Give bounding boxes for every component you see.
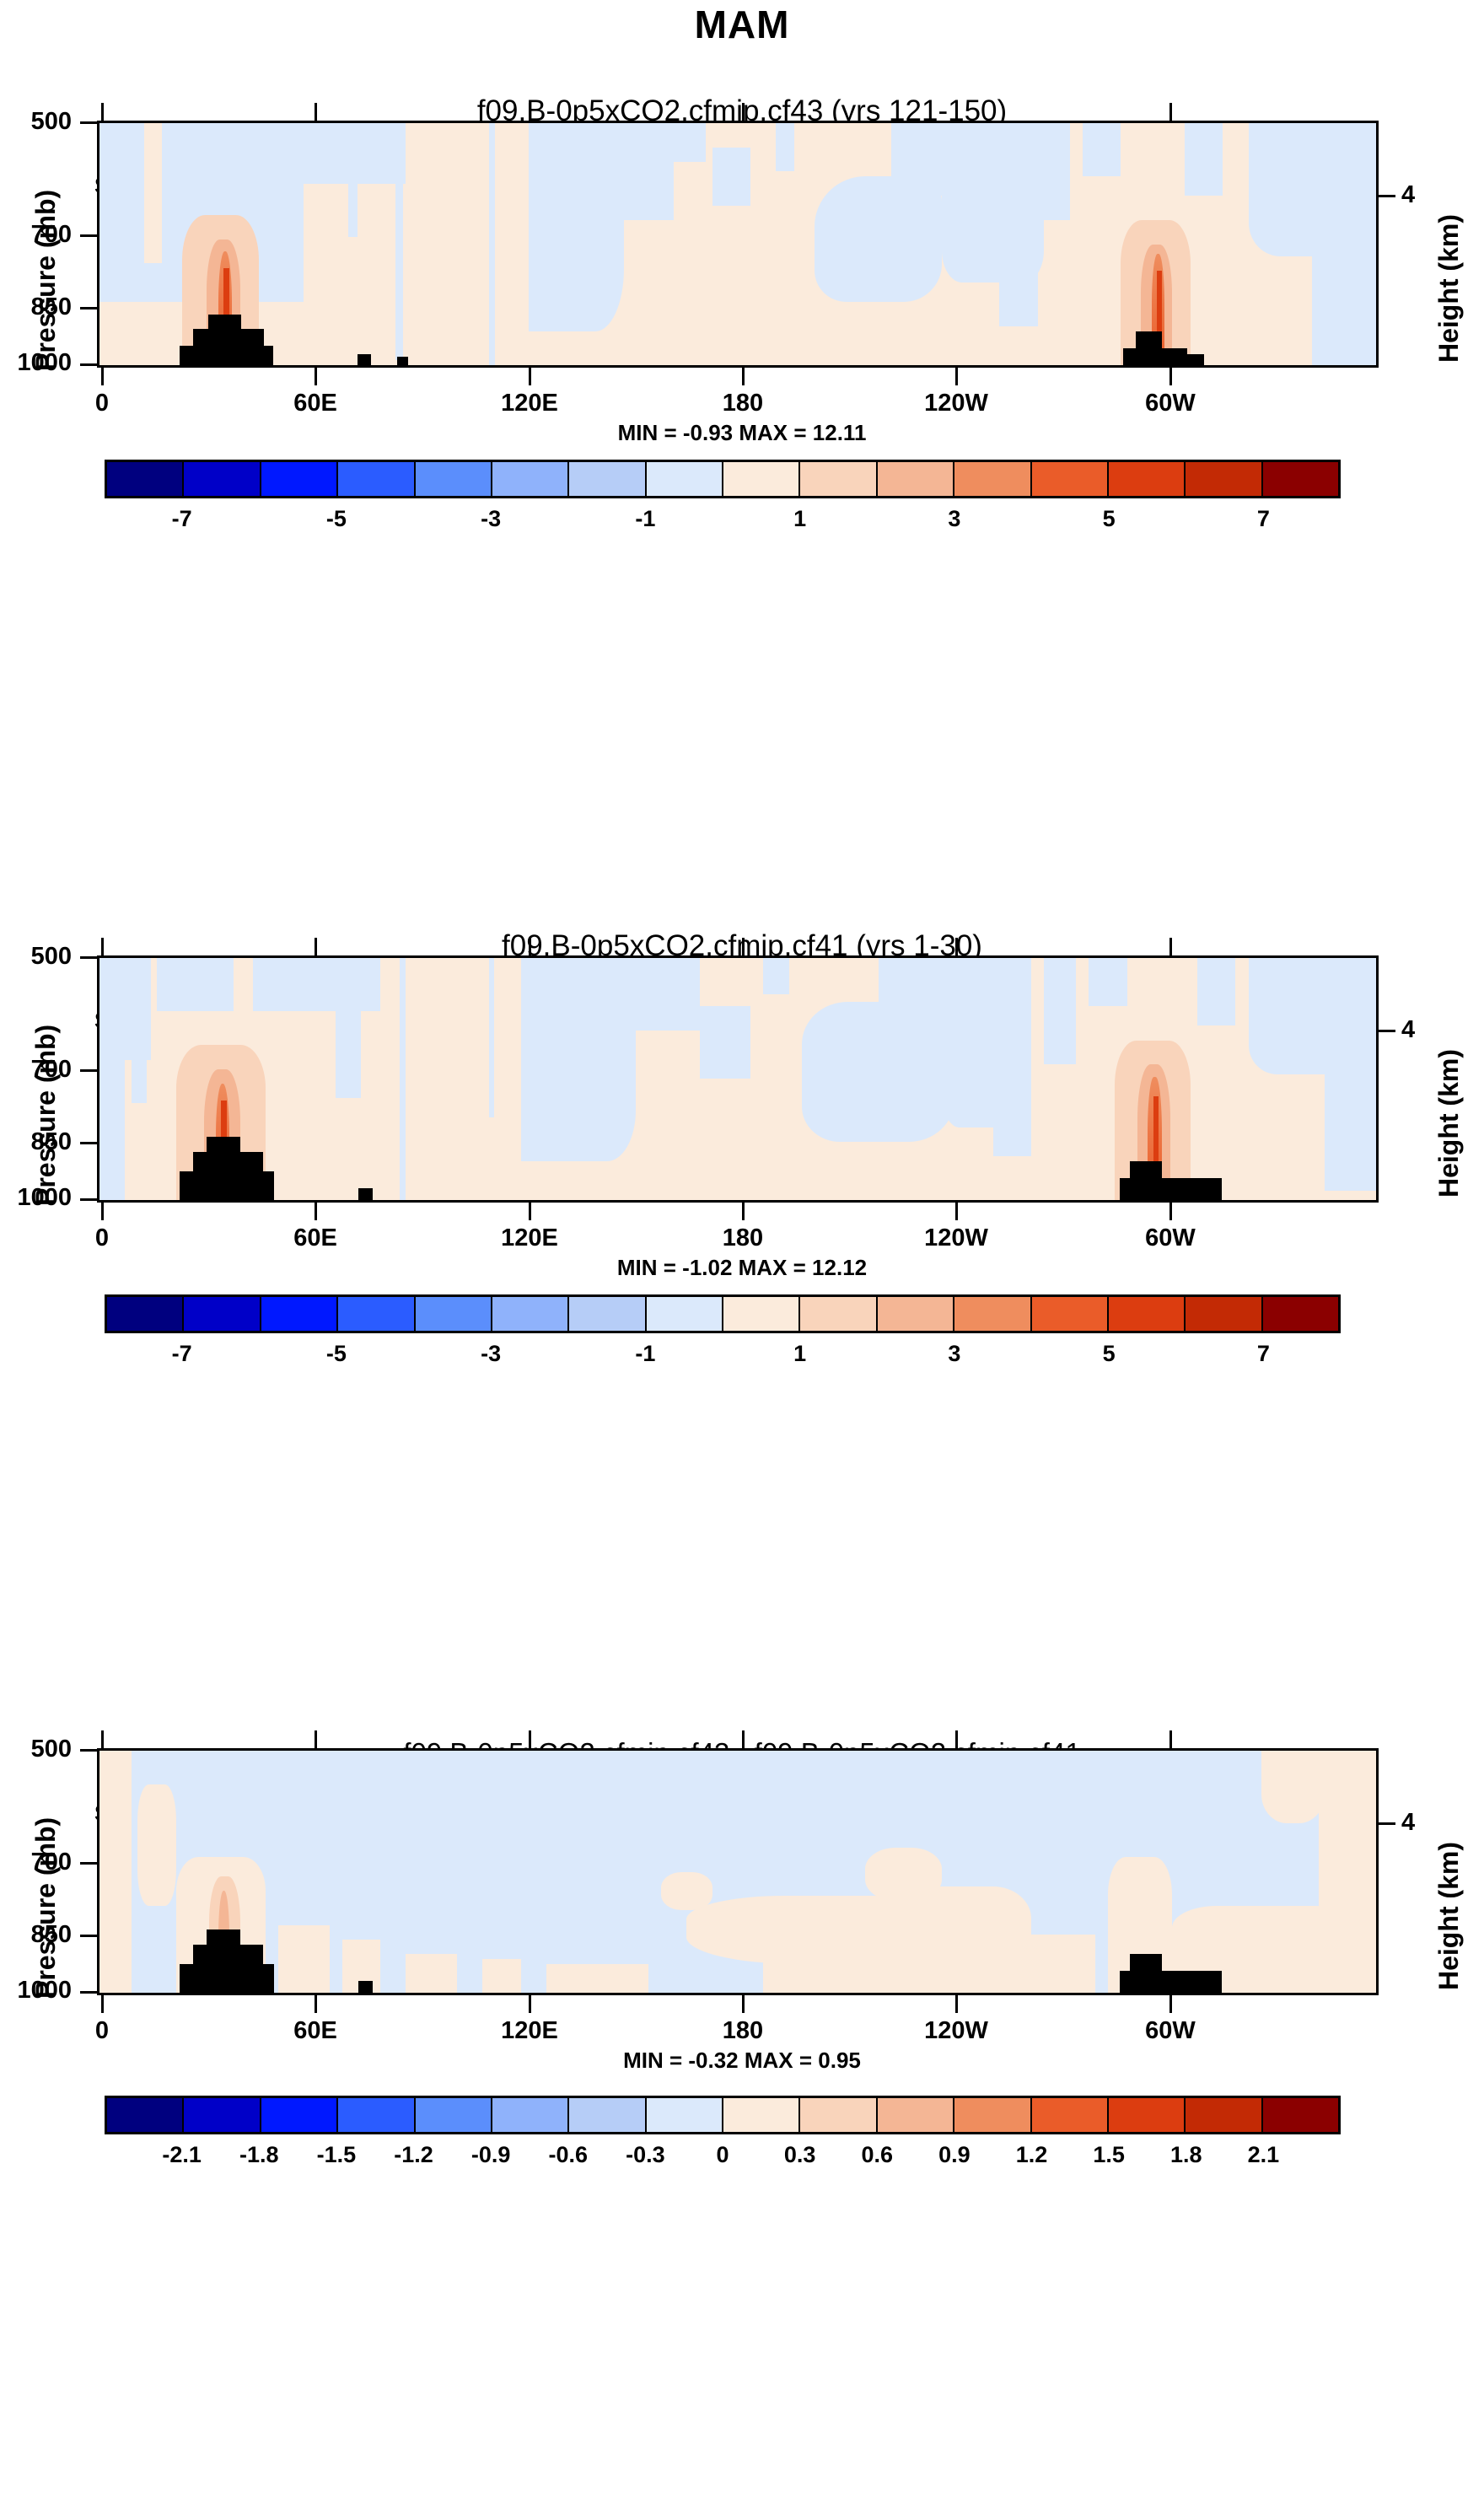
panel-2-tick-bottom-60W: [1169, 1203, 1172, 1220]
colorbar-tick-label: -1.8: [239, 2142, 279, 2168]
panel-3: f09.B-0p5xCO2.cfmip.cf43 - f09.B-0p5xCO2…: [0, 1670, 1484, 2508]
panel-3-plot-area[interactable]: [97, 1748, 1379, 1995]
panel-2-xtick-0: 0: [51, 1224, 153, 1252]
panel-1-y-axis-label: Pressure (mb): [30, 190, 62, 371]
colorbar-cell[interactable]: [184, 1297, 261, 1331]
colorbar-cell[interactable]: [800, 1297, 877, 1331]
panel-3-ytick-850: 850: [0, 1921, 72, 1949]
panel-3-ytickmark-1000: [80, 1991, 99, 1994]
panel-1-xtick-120W: 120W: [906, 390, 1007, 417]
colorbar-cell[interactable]: [1263, 1297, 1338, 1331]
colorbar-tick-label: -1: [635, 506, 655, 532]
colorbar-tick-label: 5: [1103, 1341, 1116, 1367]
panel-3-ytick-500: 500: [0, 1736, 72, 1763]
panel-3-ytickmark-700: [80, 1862, 99, 1865]
colorbar-cell[interactable]: [1186, 462, 1262, 496]
panel-2-xtick-60W: 60W: [1120, 1224, 1221, 1252]
panel-1-ytick-700: 700: [0, 221, 72, 249]
panel-2-colorbar-labels: -7-5-3-11357: [105, 1341, 1341, 1370]
colorbar-tick-label: 7: [1257, 506, 1270, 532]
colorbar-cell[interactable]: [416, 1297, 492, 1331]
panel-3-tick-top-60W: [1169, 1730, 1172, 1748]
panel-1-tick-top-120W: [955, 103, 958, 121]
panel-1-right-axis-label: Height (km): [1433, 214, 1465, 363]
panel-2-xtick-120E: 120E: [479, 1224, 580, 1252]
panel-1-ytick-850: 850: [0, 293, 72, 321]
colorbar-cell[interactable]: [1263, 2098, 1338, 2132]
panel-3-xtick-120E: 120E: [479, 2017, 580, 2045]
panel-3-xtick-60E: 60E: [265, 2017, 366, 2045]
panel-3-tick-top-180: [742, 1730, 745, 1748]
panel-2-tick-bottom-120E: [529, 1203, 531, 1220]
colorbar-tick-label: -3: [481, 1341, 501, 1367]
panel-2-tick-top-180: [742, 938, 745, 955]
colorbar-tick-label: -5: [326, 506, 347, 532]
panel-2-y-axis-label: Pressure (mb): [30, 1025, 62, 1206]
colorbar-tick-label: -3: [481, 506, 501, 532]
panel-2-rtick-4: 4: [1401, 1016, 1452, 1044]
colorbar-tick-label: -7: [172, 506, 192, 532]
panel-1-ytick-1000: 1000: [0, 349, 72, 377]
panel-1-tick-bottom-120W: [955, 368, 958, 385]
colorbar-tick-label: 1: [793, 1341, 806, 1367]
panel-2-rtickmark-4: [1377, 1030, 1395, 1032]
colorbar-cell[interactable]: [800, 2098, 877, 2132]
panel-2-contour-field: [99, 958, 1376, 1200]
colorbar-cell[interactable]: [261, 2098, 338, 2132]
panel-1-contour-field: [99, 123, 1376, 365]
colorbar-tick-label: 0.9: [938, 2142, 971, 2168]
colorbar-tick-label: 3: [948, 1341, 960, 1367]
panel-2-tick-bottom-60E: [315, 1203, 317, 1220]
panel-1-tick-top-120E: [529, 103, 531, 121]
panel-3-xtick-0: 0: [51, 2017, 153, 2045]
colorbar-tick-label: -0.6: [548, 2142, 588, 2168]
panel-3-ytick-700: 700: [0, 1849, 72, 1876]
colorbar-cell[interactable]: [800, 462, 877, 496]
colorbar-cell[interactable]: [954, 2098, 1031, 2132]
colorbar-cell[interactable]: [416, 2098, 492, 2132]
colorbar-tick-label: -2.1: [162, 2142, 202, 2168]
colorbar-cell[interactable]: [1263, 462, 1338, 496]
colorbar-tick-label: 0: [716, 2142, 729, 2168]
panel-2-tick-top-120E: [529, 938, 531, 955]
colorbar-tick-label: 1: [793, 506, 806, 532]
figure-canvas: MAM f09.B-0p5xCO2.cfmip.cf43 (yrs 121-15…: [0, 0, 1484, 2508]
colorbar-cell[interactable]: [723, 1297, 800, 1331]
panel-2: f09.B-0p5xCO2.cfmip.cf41 (yrs 1-30) Stat…: [0, 835, 1484, 1729]
panel-3-minmax: MIN = -0.32 MAX = 0.95: [0, 2048, 1484, 2074]
panel-3-rtick-4: 4: [1401, 1809, 1452, 1837]
colorbar-cell[interactable]: [338, 462, 415, 496]
panel-2-tick-top-60E: [315, 938, 317, 955]
panel-1-ytickmark-850: [80, 307, 99, 309]
colorbar-cell[interactable]: [647, 462, 723, 496]
panel-3-tick-bottom-60W: [1169, 1995, 1172, 2013]
colorbar-cell[interactable]: [647, 2098, 723, 2132]
panel-3-tick-bottom-60E: [315, 1995, 317, 2013]
panel-2-tick-top-60W: [1169, 938, 1172, 955]
panel-1-ytickmark-700: [80, 234, 99, 237]
colorbar-cell[interactable]: [492, 462, 569, 496]
panel-2-tick-top-0: [101, 938, 104, 955]
panel-2-tick-top-120W: [955, 938, 958, 955]
panel-1-rtick-4: 4: [1401, 181, 1452, 209]
colorbar-cell[interactable]: [416, 462, 492, 496]
colorbar-tick-label: -1.2: [394, 2142, 433, 2168]
colorbar-tick-label: 1.8: [1170, 2142, 1202, 2168]
panel-3-right-axis-label: Height (km): [1433, 1842, 1465, 1990]
panel-1: f09.B-0p5xCO2.cfmip.cf43 (yrs 121-150) S…: [0, 0, 1484, 894]
colorbar-cell[interactable]: [954, 1297, 1031, 1331]
panel-2-plot-area[interactable]: [97, 955, 1379, 1203]
panel-3-tick-top-120E: [529, 1730, 531, 1748]
panel-1-tick-bottom-60E: [315, 368, 317, 385]
panel-3-tick-bottom-120E: [529, 1995, 531, 2013]
colorbar-tick-label: 1.2: [1016, 2142, 1048, 2168]
panel-2-minmax: MIN = -1.02 MAX = 12.12: [0, 1255, 1484, 1281]
panel-3-xtick-120W: 120W: [906, 2017, 1007, 2045]
panel-1-tick-bottom-60W: [1169, 368, 1172, 385]
panel-1-colorbar-labels: -7-5-3-11357: [105, 506, 1341, 535]
colorbar-cell[interactable]: [723, 462, 800, 496]
colorbar-cell[interactable]: [723, 2098, 800, 2132]
colorbar-tick-label: 0.6: [861, 2142, 893, 2168]
panel-2-ytick-500: 500: [0, 943, 72, 971]
panel-3-ytick-1000: 1000: [0, 1977, 72, 2005]
panel-2-xtick-60E: 60E: [265, 1224, 366, 1252]
colorbar-cell[interactable]: [569, 1297, 646, 1331]
colorbar-cell[interactable]: [107, 1297, 184, 1331]
colorbar-cell[interactable]: [184, 2098, 261, 2132]
panel-2-tick-bottom-0: [101, 1203, 104, 1220]
colorbar-cell[interactable]: [1109, 462, 1186, 496]
panel-1-rtickmark-4: [1377, 195, 1395, 197]
panel-2-ytick-1000: 1000: [0, 1184, 72, 1212]
panel-1-xtick-60E: 60E: [265, 390, 366, 417]
panel-1-tick-top-180: [742, 103, 745, 121]
colorbar-cell[interactable]: [569, 2098, 646, 2132]
panel-1-tick-top-0: [101, 103, 104, 121]
colorbar-cell[interactable]: [261, 462, 338, 496]
colorbar-tick-label: 5: [1103, 506, 1116, 532]
colorbar-cell[interactable]: [1032, 462, 1109, 496]
colorbar-cell[interactable]: [107, 462, 184, 496]
colorbar-cell[interactable]: [492, 1297, 569, 1331]
panel-3-tick-top-60E: [315, 1730, 317, 1748]
panel-3-colorbar[interactable]: [105, 2096, 1341, 2134]
panel-3-tick-bottom-0: [101, 1995, 104, 2013]
colorbar-tick-label: -0.3: [626, 2142, 665, 2168]
panel-3-rtickmark-4: [1377, 1822, 1395, 1825]
colorbar-cell[interactable]: [107, 2098, 184, 2132]
colorbar-cell[interactable]: [261, 1297, 338, 1331]
colorbar-tick-label: -0.9: [471, 2142, 511, 2168]
panel-3-tick-bottom-180: [742, 1995, 745, 2013]
colorbar-cell[interactable]: [338, 1297, 415, 1331]
panel-1-tick-top-60E: [315, 103, 317, 121]
panel-1-minmax: MIN = -0.93 MAX = 12.11: [0, 420, 1484, 446]
panel-3-ytickmark-500: [80, 1749, 99, 1752]
panel-2-colorbar[interactable]: [105, 1294, 1341, 1333]
colorbar-tick-label: 3: [948, 506, 960, 532]
colorbar-cell[interactable]: [1109, 2098, 1186, 2132]
panel-2-ytick-850: 850: [0, 1128, 72, 1156]
panel-1-xtick-120E: 120E: [479, 390, 580, 417]
panel-1-colorbar[interactable]: [105, 460, 1341, 498]
panel-1-xtick-0: 0: [51, 390, 153, 417]
panel-1-tick-top-60W: [1169, 103, 1172, 121]
colorbar-tick-label: 0.3: [784, 2142, 816, 2168]
colorbar-cell[interactable]: [954, 462, 1031, 496]
panel-1-tick-bottom-0: [101, 368, 104, 385]
panel-3-tick-top-0: [101, 1730, 104, 1748]
colorbar-cell[interactable]: [878, 1297, 954, 1331]
panel-2-tick-bottom-180: [742, 1203, 745, 1220]
colorbar-tick-label: -5: [326, 1341, 347, 1367]
panel-2-right-axis-label: Height (km): [1433, 1049, 1465, 1197]
colorbar-cell[interactable]: [1186, 2098, 1262, 2132]
panel-2-xtick-120W: 120W: [906, 1224, 1007, 1252]
colorbar-cell[interactable]: [1032, 2098, 1109, 2132]
colorbar-cell[interactable]: [878, 462, 954, 496]
panel-3-y-axis-label: Pressure (mb): [30, 1817, 62, 1999]
panel-3-tick-bottom-120W: [955, 1995, 958, 2013]
colorbar-cell[interactable]: [647, 1297, 723, 1331]
panel-1-xtick-60W: 60W: [1120, 390, 1221, 417]
panel-3-xtick-180: 180: [692, 2017, 793, 2045]
panel-1-plot-area[interactable]: [97, 121, 1379, 368]
colorbar-cell[interactable]: [184, 462, 261, 496]
colorbar-cell[interactable]: [569, 462, 646, 496]
colorbar-tick-label: 2.1: [1248, 2142, 1280, 2168]
colorbar-cell[interactable]: [492, 2098, 569, 2132]
colorbar-cell[interactable]: [1109, 1297, 1186, 1331]
panel-3-colorbar-labels: -2.1-1.8-1.5-1.2-0.9-0.6-0.300.30.60.91.…: [105, 2142, 1341, 2171]
panel-1-ytick-500: 500: [0, 108, 72, 136]
colorbar-cell[interactable]: [1186, 1297, 1262, 1331]
colorbar-cell[interactable]: [338, 2098, 415, 2132]
panel-3-ytickmark-850: [80, 1935, 99, 1937]
colorbar-cell[interactable]: [1032, 1297, 1109, 1331]
colorbar-tick-label: -1: [635, 1341, 655, 1367]
panel-2-ytickmark-700: [80, 1069, 99, 1072]
colorbar-tick-label: -7: [172, 1341, 192, 1367]
panel-1-ytickmark-500: [80, 121, 99, 124]
panel-1-tick-bottom-180: [742, 368, 745, 385]
panel-2-ytickmark-500: [80, 956, 99, 959]
panel-3-contour-field: [99, 1751, 1376, 1993]
colorbar-tick-label: 1.5: [1093, 2142, 1125, 2168]
colorbar-tick-label: -1.5: [317, 2142, 357, 2168]
panel-2-xtick-180: 180: [692, 1224, 793, 1252]
panel-1-xtick-180: 180: [692, 390, 793, 417]
panel-3-xtick-60W: 60W: [1120, 2017, 1221, 2045]
panel-3-tick-top-120W: [955, 1730, 958, 1748]
panel-2-ytick-700: 700: [0, 1056, 72, 1084]
panel-2-ytickmark-1000: [80, 1198, 99, 1201]
panel-2-ytickmark-850: [80, 1142, 99, 1144]
panel-1-ytickmark-1000: [80, 363, 99, 366]
panel-1-tick-bottom-120E: [529, 368, 531, 385]
colorbar-cell[interactable]: [878, 2098, 954, 2132]
colorbar-tick-label: 7: [1257, 1341, 1270, 1367]
panel-2-tick-bottom-120W: [955, 1203, 958, 1220]
